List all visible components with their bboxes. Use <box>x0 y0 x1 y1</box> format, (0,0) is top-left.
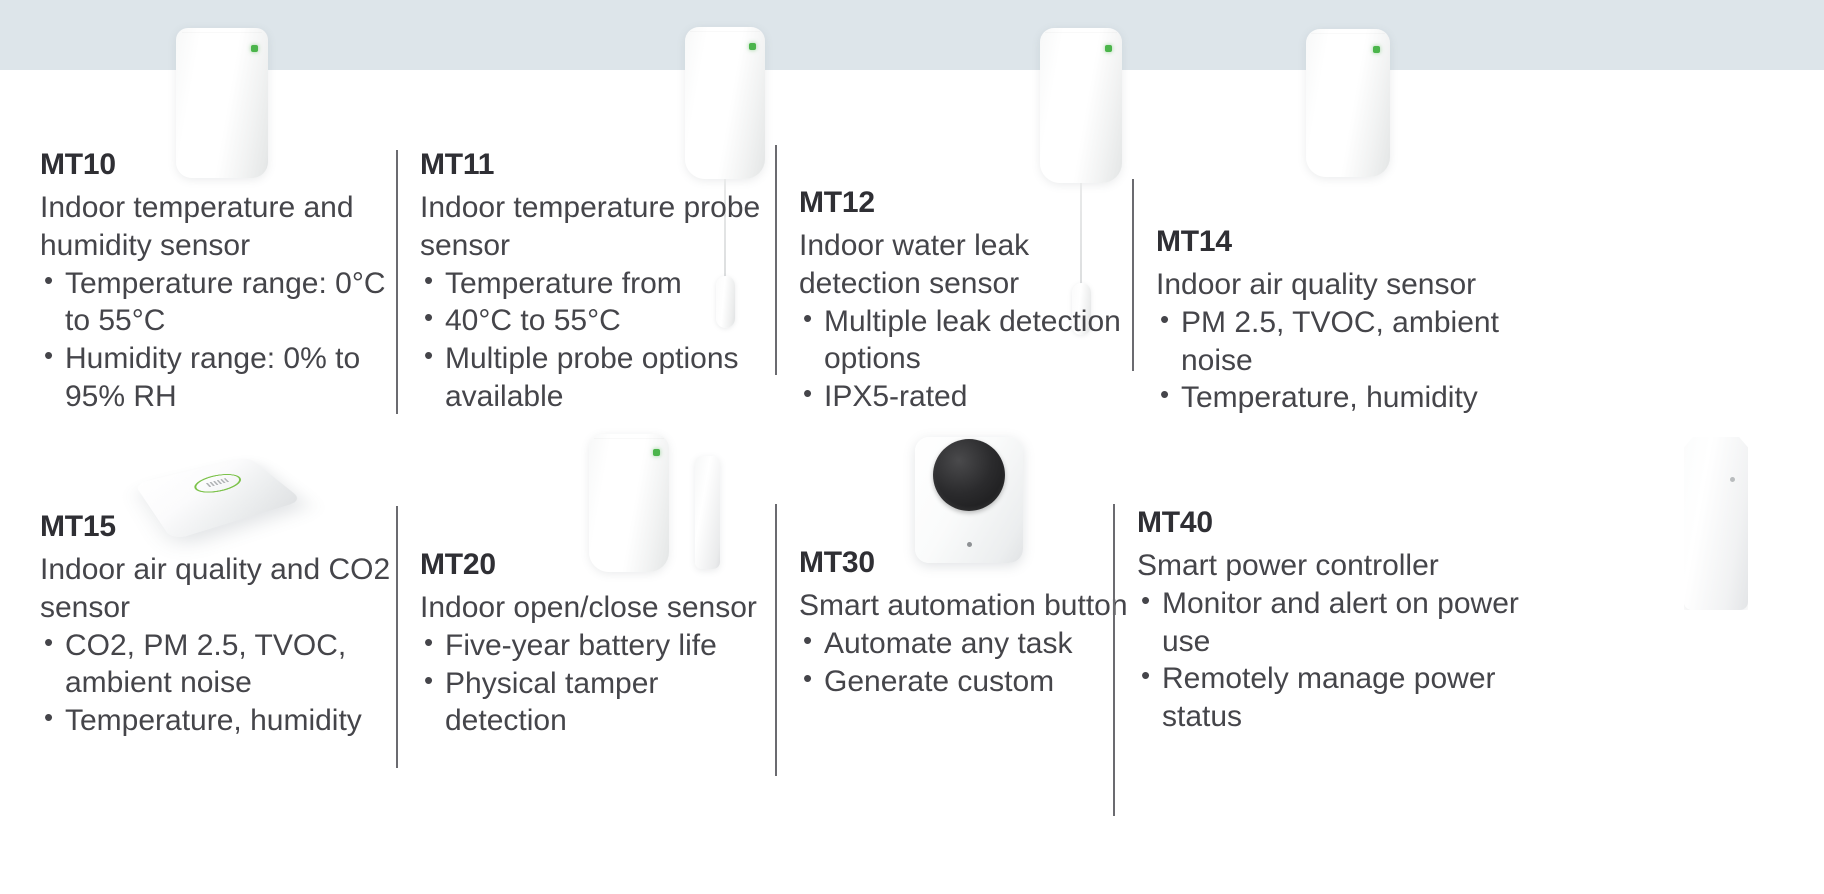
product-features-mt40: Monitor and alert on power use Remotely … <box>1137 585 1557 736</box>
product-card-mt30: MT30 Smart automation button Automate an… <box>775 548 1135 836</box>
product-description-mt10: Indoor temperature and humidity sensor <box>40 189 398 265</box>
card-divider <box>775 145 777 375</box>
mt40-device-image <box>1684 437 1748 610</box>
feature-item: Automate any task <box>799 625 1135 663</box>
product-model-mt11: MT11 <box>420 150 776 180</box>
feature-item: Temperature range: 0°C to 55°C <box>40 265 398 341</box>
product-description-mt12: Indoor water leak detection sensor <box>799 227 1139 303</box>
product-description-mt15: Indoor air quality and CO2 sensor <box>40 551 398 627</box>
product-family-poster: MT10 Indoor temperature and humidity sen… <box>0 0 1824 894</box>
product-card-mt20: MT20 Indoor open/close sensor Five-year … <box>396 550 776 836</box>
feature-item: Five-year battery life <box>420 627 788 665</box>
product-description-mt11: Indoor temperature probe sensor <box>420 189 776 265</box>
top-accent-band <box>0 0 1824 70</box>
product-card-mt14: MT14 Indoor air quality sensor PM 2.5, T… <box>1132 227 1532 467</box>
product-model-mt30: MT30 <box>799 548 1135 578</box>
feature-item: CO2, PM 2.5, TVOC, ambient noise <box>40 627 398 703</box>
product-description-mt40: Smart power controller <box>1137 547 1557 585</box>
feature-item: Multiple leak detection options <box>799 303 1139 379</box>
status-dot-icon <box>1730 477 1735 482</box>
product-features-mt11: Temperature from 40°C to 55°C Multiple p… <box>420 265 776 416</box>
product-model-mt12: MT12 <box>799 188 1139 218</box>
feature-item: Temperature, humidity <box>40 702 398 740</box>
product-model-mt10: MT10 <box>40 150 398 180</box>
card-divider <box>1113 504 1115 816</box>
card-divider <box>396 150 398 414</box>
feature-item: 40°C to 55°C <box>420 302 776 340</box>
product-model-mt20: MT20 <box>420 550 788 580</box>
feature-item: Multiple probe options available <box>420 340 776 416</box>
product-card-mt11: MT11 Indoor temperature probe sensor Tem… <box>396 150 776 462</box>
feature-item: Physical tamper detection <box>420 665 788 741</box>
feature-item: Temperature, humidity <box>1156 379 1548 417</box>
microphone-pinhole-icon <box>967 542 972 547</box>
card-divider <box>396 506 398 768</box>
feature-item: IPX5-rated <box>799 378 1139 416</box>
feature-item: PM 2.5, TVOC, ambient noise <box>1156 304 1548 380</box>
feature-item: Remotely manage power status <box>1137 660 1557 736</box>
card-divider <box>775 504 777 776</box>
product-features-mt20: Five-year battery life Physical tamper d… <box>420 627 788 740</box>
product-card-mt15: MT15 Indoor air quality and CO2 sensor C… <box>14 512 398 822</box>
feature-item: Monitor and alert on power use <box>1137 585 1557 661</box>
product-card-mt10: MT10 Indoor temperature and humidity sen… <box>14 150 398 462</box>
product-features-mt10: Temperature range: 0°C to 55°C Humidity … <box>40 265 398 416</box>
product-description-mt30: Smart automation button <box>799 587 1135 625</box>
card-divider <box>1132 179 1134 371</box>
product-features-mt14: PM 2.5, TVOC, ambient noise Temperature,… <box>1156 304 1548 417</box>
product-model-mt40: MT40 <box>1137 508 1557 538</box>
cisco-meraki-logo-icon <box>189 471 247 497</box>
product-description-mt20: Indoor open/close sensor <box>420 589 788 627</box>
feature-item: Humidity range: 0% to 95% RH <box>40 340 398 416</box>
feature-item: Generate custom <box>799 663 1135 701</box>
product-card-mt12: MT12 Indoor water leak detection sensor … <box>775 188 1135 464</box>
product-card-mt40: MT40 Smart power controller Monitor and … <box>1113 508 1533 828</box>
product-features-mt15: CO2, PM 2.5, TVOC, ambient noise Tempera… <box>40 627 398 740</box>
product-model-mt14: MT14 <box>1156 227 1548 257</box>
product-features-mt12: Multiple leak detection options IPX5-rat… <box>799 303 1139 416</box>
product-model-mt15: MT15 <box>40 512 398 542</box>
feature-item: Temperature from <box>420 265 776 303</box>
product-features-mt30: Automate any task Generate custom <box>799 625 1135 701</box>
product-description-mt14: Indoor air quality sensor <box>1156 266 1548 304</box>
